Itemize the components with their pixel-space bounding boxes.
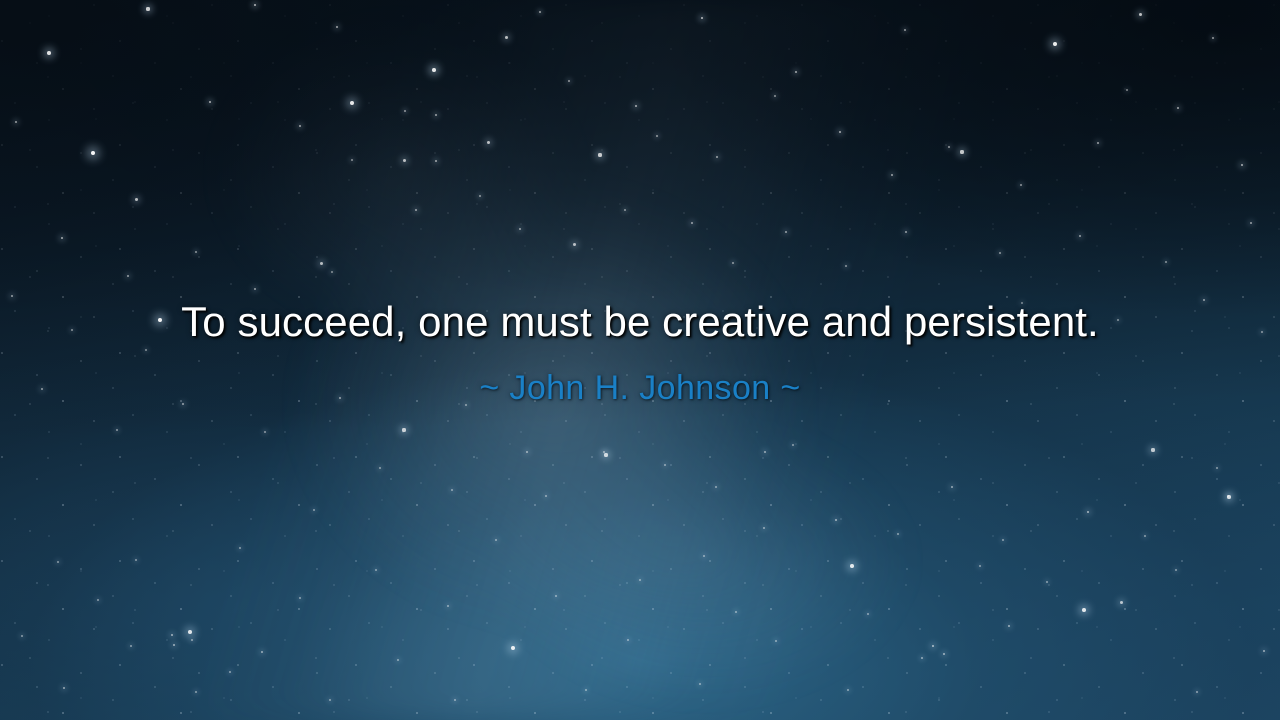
star [775, 640, 777, 642]
star [835, 519, 838, 522]
star [1053, 42, 1057, 46]
star [1020, 184, 1022, 186]
star [299, 597, 301, 599]
star [320, 262, 323, 265]
star [1216, 467, 1218, 469]
star [447, 605, 449, 607]
star [1227, 495, 1231, 499]
star [1196, 691, 1198, 693]
star [735, 611, 737, 613]
star [948, 146, 950, 148]
star [91, 151, 96, 156]
star [839, 131, 842, 134]
star [127, 275, 130, 278]
star [545, 495, 547, 497]
star [435, 114, 438, 117]
star [921, 657, 923, 659]
star [763, 527, 765, 529]
star [261, 651, 264, 654]
star [254, 288, 257, 291]
star [1046, 581, 1048, 583]
star [897, 533, 899, 535]
star [479, 195, 481, 197]
star [403, 159, 406, 162]
star [329, 699, 331, 701]
star [1008, 625, 1011, 628]
star [299, 125, 302, 128]
star [932, 645, 935, 648]
star [699, 683, 701, 685]
star [209, 101, 212, 104]
star [1139, 13, 1142, 16]
star [635, 105, 638, 108]
star [845, 265, 847, 267]
star [795, 71, 798, 74]
star [191, 639, 193, 641]
star [397, 659, 399, 661]
quote-author: ~ John H. Johnson ~ [0, 367, 1280, 409]
star [432, 68, 436, 72]
star [904, 29, 906, 31]
star [979, 565, 981, 567]
star [171, 634, 174, 637]
star [701, 17, 704, 20]
star [639, 579, 641, 581]
star [1082, 608, 1086, 612]
star [173, 644, 176, 647]
star [585, 689, 587, 691]
star [451, 489, 453, 491]
star [716, 156, 719, 159]
star [715, 486, 717, 488]
star [1144, 535, 1146, 537]
star [487, 141, 490, 144]
star [61, 237, 64, 240]
star [188, 630, 192, 634]
star [404, 110, 406, 112]
star [785, 231, 788, 234]
star [1250, 222, 1253, 225]
star [774, 95, 776, 97]
star [116, 429, 118, 431]
star [1002, 539, 1004, 541]
star [47, 51, 51, 55]
star [351, 159, 353, 161]
star [1263, 650, 1266, 653]
star [627, 639, 629, 641]
star [415, 209, 418, 212]
star [435, 160, 438, 163]
star [57, 561, 59, 563]
star [195, 251, 197, 253]
star [15, 121, 18, 124]
star [656, 135, 658, 137]
star [905, 231, 908, 234]
star [555, 595, 557, 597]
star [229, 671, 231, 673]
star [951, 486, 954, 489]
star [664, 464, 666, 466]
star [603, 451, 605, 453]
star [454, 699, 456, 701]
star [130, 645, 132, 647]
star [568, 80, 570, 82]
star [402, 428, 405, 431]
star [1177, 107, 1180, 110]
star [1175, 569, 1177, 571]
star [539, 11, 541, 13]
quote-block: To succeed, one must be creative and per… [0, 296, 1280, 409]
star [375, 569, 377, 571]
star [21, 635, 23, 637]
star [573, 243, 576, 246]
star [264, 431, 266, 433]
quote-text: To succeed, one must be creative and per… [0, 296, 1280, 348]
star [97, 599, 99, 601]
star [624, 209, 626, 211]
star [63, 687, 66, 690]
star [519, 228, 522, 231]
star [1165, 261, 1167, 263]
star [1241, 164, 1244, 167]
star [1087, 511, 1090, 514]
star [604, 453, 607, 456]
star [891, 174, 894, 177]
star [254, 4, 257, 7]
star [350, 101, 354, 105]
star [1212, 37, 1214, 39]
star [239, 547, 241, 549]
star [691, 222, 694, 225]
star [195, 691, 197, 693]
star [379, 467, 381, 469]
star [135, 198, 138, 201]
star [847, 689, 849, 691]
star [850, 564, 854, 568]
quote-card: To succeed, one must be creative and per… [0, 0, 1280, 720]
star [1120, 601, 1123, 604]
star [135, 559, 137, 561]
star [511, 646, 515, 650]
star [943, 653, 946, 656]
star [732, 262, 734, 264]
star [960, 150, 963, 153]
star [313, 509, 315, 511]
star [331, 271, 333, 273]
star [1126, 89, 1128, 91]
star [867, 613, 869, 615]
star [1227, 495, 1229, 497]
star [336, 26, 339, 29]
star [505, 36, 508, 39]
star [1151, 448, 1154, 451]
star [1079, 235, 1082, 238]
star [999, 252, 1001, 254]
star [598, 153, 601, 156]
star [1097, 142, 1100, 145]
star [526, 451, 529, 454]
star [703, 555, 705, 557]
star [764, 451, 767, 454]
star [146, 7, 149, 10]
star [792, 444, 794, 446]
star [495, 539, 497, 541]
